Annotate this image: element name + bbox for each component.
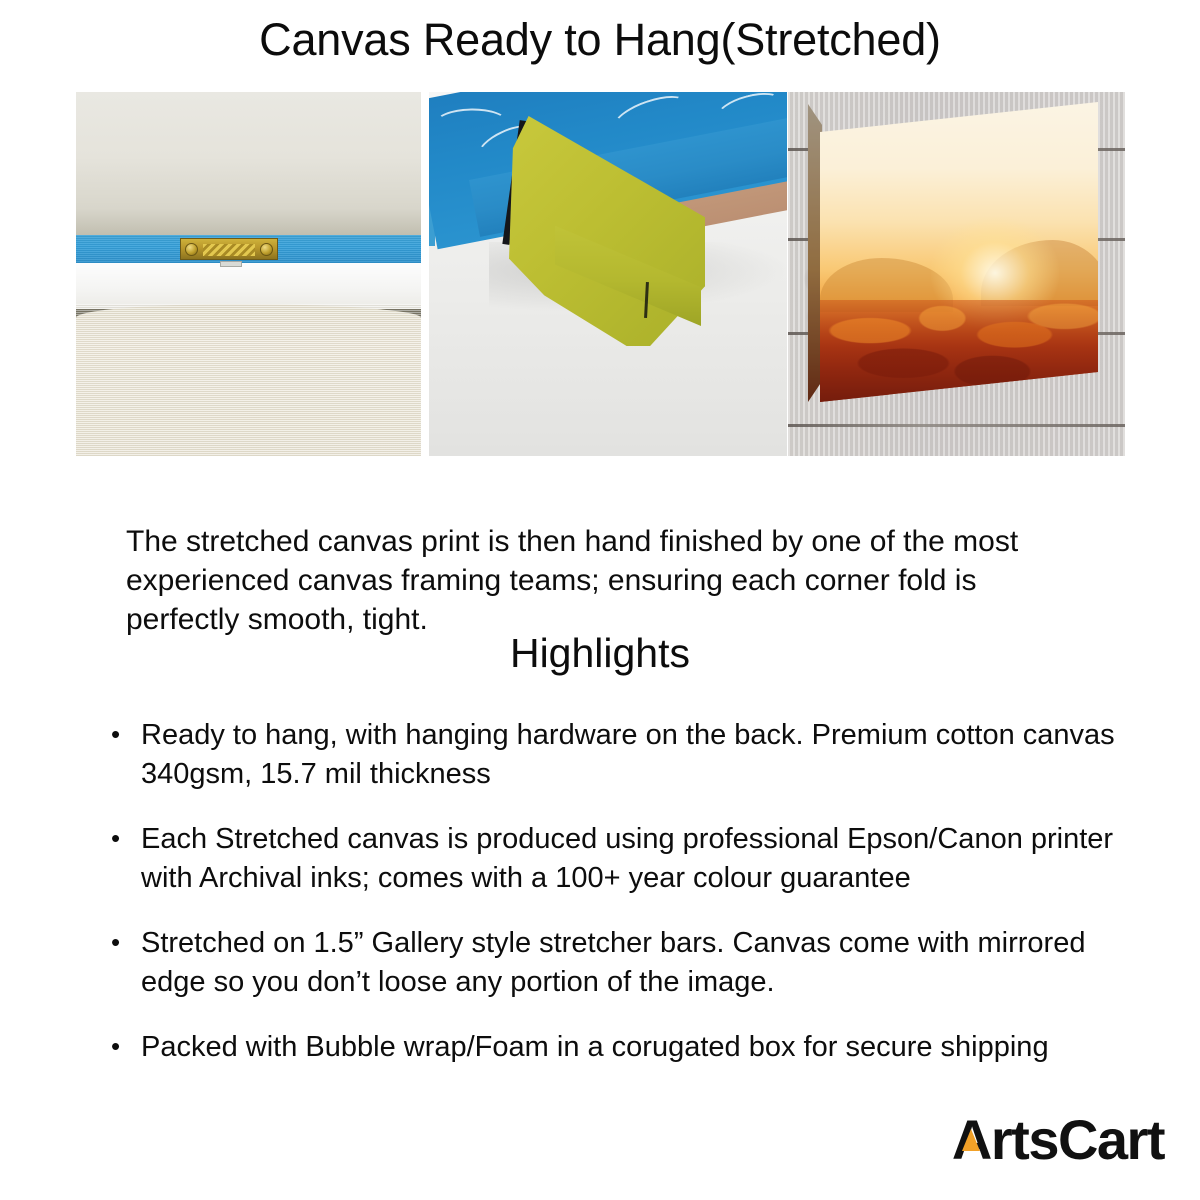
hanger-clip [220,261,242,267]
highlights-list: • Ready to hang, with hanging hardware o… [107,716,1117,1093]
product-image-canvas-corner-fold [429,92,787,456]
canvas-artwork-sunset-landscape [820,102,1098,402]
list-item-text: Ready to hang, with hanging hardware on … [141,719,1115,790]
gallery-gap [421,92,429,456]
page-title: Canvas Ready to Hang(Stretched) [0,14,1200,66]
bullet-marker: • [111,819,120,858]
hanger-screw-left [185,243,198,256]
canvas-gallery-wrap-side [808,104,822,402]
sawtooth-hanger-icon [180,238,278,260]
intro-paragraph: The stretched canvas print is then hand … [126,522,1076,639]
bullet-marker: • [111,923,120,962]
product-image-gallery [76,92,1125,456]
list-item: • Ready to hang, with hanging hardware o… [107,716,1117,794]
product-image-canvas-back-hanging-hardware [76,92,421,456]
brand-logo-text: rtsCart [991,1112,1164,1168]
highlights-heading: Highlights [0,630,1200,677]
list-item-text: Each Stretched canvas is produced using … [141,823,1113,894]
cotton-canvas-surface [76,304,421,456]
canvas-white-edge [76,263,421,309]
list-item: • Packed with Bubble wrap/Foam in a coru… [107,1028,1117,1067]
list-item: • Each Stretched canvas is produced usin… [107,820,1117,898]
list-item-text: Stretched on 1.5” Gallery style stretche… [141,927,1085,998]
triangle-icon [962,1129,980,1151]
product-image-canvas-hung-on-wall [788,92,1125,456]
list-item-text: Packed with Bubble wrap/Foam in a coruga… [141,1031,1049,1063]
bullet-marker: • [111,1027,120,1066]
brand-logo: A rtsCart [952,1112,1164,1168]
list-item: • Stretched on 1.5” Gallery style stretc… [107,924,1117,1002]
hanger-teeth [203,244,255,256]
plank-seam [788,424,1125,427]
bullet-marker: • [111,715,120,754]
hanger-screw-right [260,243,273,256]
brand-logo-letter-a: A [952,1112,991,1168]
